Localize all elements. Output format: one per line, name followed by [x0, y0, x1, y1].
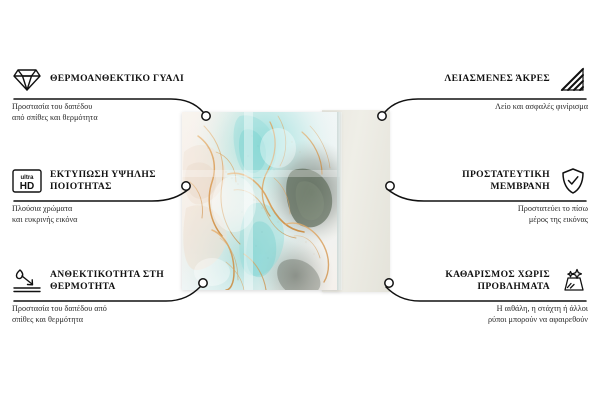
- feature-heat-resistance: ΑΝΘΕΚΤΙΚΟΤΗΤΑ ΣΤΗ ΘΕΡΜΟΤΗΤΑ Προστασία το…: [12, 266, 188, 326]
- feature-title: ΛΕΙΑΣΜΕΝΕΣ ΆΚΡΕΣ: [444, 73, 550, 86]
- flame-heat-resistance-icon: [12, 266, 42, 296]
- feature-description-line2: από σπίθες και θερμότητα: [12, 112, 188, 123]
- feature-header: ΑΝΘΕΚΤΙΚΟΤΗΤΑ ΣΤΗ ΘΕΡΜΟΤΗΤΑ: [12, 266, 188, 296]
- polished-edges-icon: [558, 64, 588, 94]
- feature-description: Λείο και ασφαλές φινίρισμα: [412, 101, 588, 112]
- feature-title: ΠΡΟΣΤΑΤΕΥΤΙΚΗ ΜΕΜΒΡΑΝΗ: [412, 169, 550, 194]
- feature-description-line2: ρύποι μπορούν να αφαιρεθούν: [412, 314, 588, 325]
- svg-text:HD: HD: [20, 181, 34, 192]
- feature-description-line1: Προστατεύει το πίσω: [412, 203, 588, 214]
- feature-header: ΚΑΘΑΡΙΣΜΟΣ ΧΩΡΙΣ ΠΡΟΒΛΗΜΑΤΑ: [412, 266, 588, 296]
- marble-artwork: [182, 112, 340, 290]
- feature-description-line1: Προστασία του δαπέδου: [12, 101, 188, 112]
- feature-title: ΚΑΘΑΡΙΣΜΟΣ ΧΩΡΙΣ ΠΡΟΒΛΗΜΑΤΑ: [412, 269, 550, 294]
- glass-edge-highlight: [337, 112, 342, 290]
- feature-title: ΑΝΘΕΚΤΙΚΟΤΗΤΑ ΣΤΗ ΘΕΡΜΟΤΗΤΑ: [50, 269, 188, 294]
- feature-description: Προστασία του δαπέδου από σπίθες και θερ…: [12, 303, 188, 326]
- product-stage: [182, 112, 398, 290]
- ultra-hd-icon: ultra HD: [12, 166, 42, 196]
- feature-high-quality-print: ultra HD ΕΚΤΥΠΩΣΗ ΥΨΗΛΗΣ ΠΟΙΟΤΗΤΑΣ Πλούσ…: [12, 166, 188, 226]
- product-front-panel: [182, 112, 340, 290]
- feature-description: Πλούσια χρώματα και ευκρινής εικόνα: [12, 203, 188, 226]
- diamond-icon: [12, 64, 42, 94]
- feature-header: ΛΕΙΑΣΜΕΝΕΣ ΆΚΡΕΣ: [412, 64, 588, 94]
- feature-title: ΕΚΤΥΠΩΣΗ ΥΨΗΛΗΣ ΠΟΙΟΤΗΤΑΣ: [50, 169, 188, 194]
- feature-description: Προστασία του δαπέδου από σπίθες και θερ…: [12, 101, 188, 124]
- feature-description-line1: Η αιθάλη, η στάχτη ή άλλοι: [412, 303, 588, 314]
- cleaning-sparkle-icon: [558, 266, 588, 296]
- feature-header: ultra HD ΕΚΤΥΠΩΣΗ ΥΨΗΛΗΣ ΠΟΙΟΤΗΤΑΣ: [12, 166, 188, 196]
- feature-description-line2: μέρος της εικόνας: [412, 214, 588, 225]
- feature-easy-cleaning: ΚΑΘΑΡΙΣΜΟΣ ΧΩΡΙΣ ΠΡΟΒΛΗΜΑΤΑ Η αιθάλη, η …: [412, 266, 588, 326]
- feature-description-line2: και ευκρινής εικόνα: [12, 214, 188, 225]
- feature-description-line1: Πλούσια χρώματα: [12, 203, 188, 214]
- feature-header: ΠΡΟΣΤΑΤΕΥΤΙΚΗ ΜΕΜΒΡΑΝΗ: [412, 166, 588, 196]
- feature-protective-membrane: ΠΡΟΣΤΑΤΕΥΤΙΚΗ ΜΕΜΒΡΑΝΗ Προστατεύει το πί…: [412, 166, 588, 226]
- feature-title: ΘΕΡΜΟΑΝΘΕΚΤΙΚΟ ΓΥΑΛΙ: [50, 73, 184, 86]
- product-feature-infographic: ΘΕΡΜΟΑΝΘΕΚΤΙΚΟ ΓΥΑΛΙ Προστασία του δαπέδ…: [0, 0, 600, 400]
- feature-description-line1: Λείο και ασφαλές φινίρισμα: [412, 101, 588, 112]
- feature-description-line2: σπίθες και θερμότητα: [12, 314, 188, 325]
- feature-header: ΘΕΡΜΟΑΝΘΕΚΤΙΚΟ ΓΥΑΛΙ: [12, 64, 188, 94]
- feature-description: Η αιθάλη, η στάχτη ή άλλοι ρύποι μπορούν…: [412, 303, 588, 326]
- shield-check-icon: [558, 166, 588, 196]
- feature-description-line1: Προστασία του δαπέδου από: [12, 303, 188, 314]
- feature-polished-edges: ΛΕΙΑΣΜΕΝΕΣ ΆΚΡΕΣ Λείο και ασφαλές φινίρι…: [412, 64, 588, 112]
- feature-description: Προστατεύει το πίσω μέρος της εικόνας: [412, 203, 588, 226]
- feature-heat-resistant-glass: ΘΕΡΜΟΑΝΘΕΚΤΙΚΟ ΓΥΑΛΙ Προστασία του δαπέδ…: [12, 64, 188, 124]
